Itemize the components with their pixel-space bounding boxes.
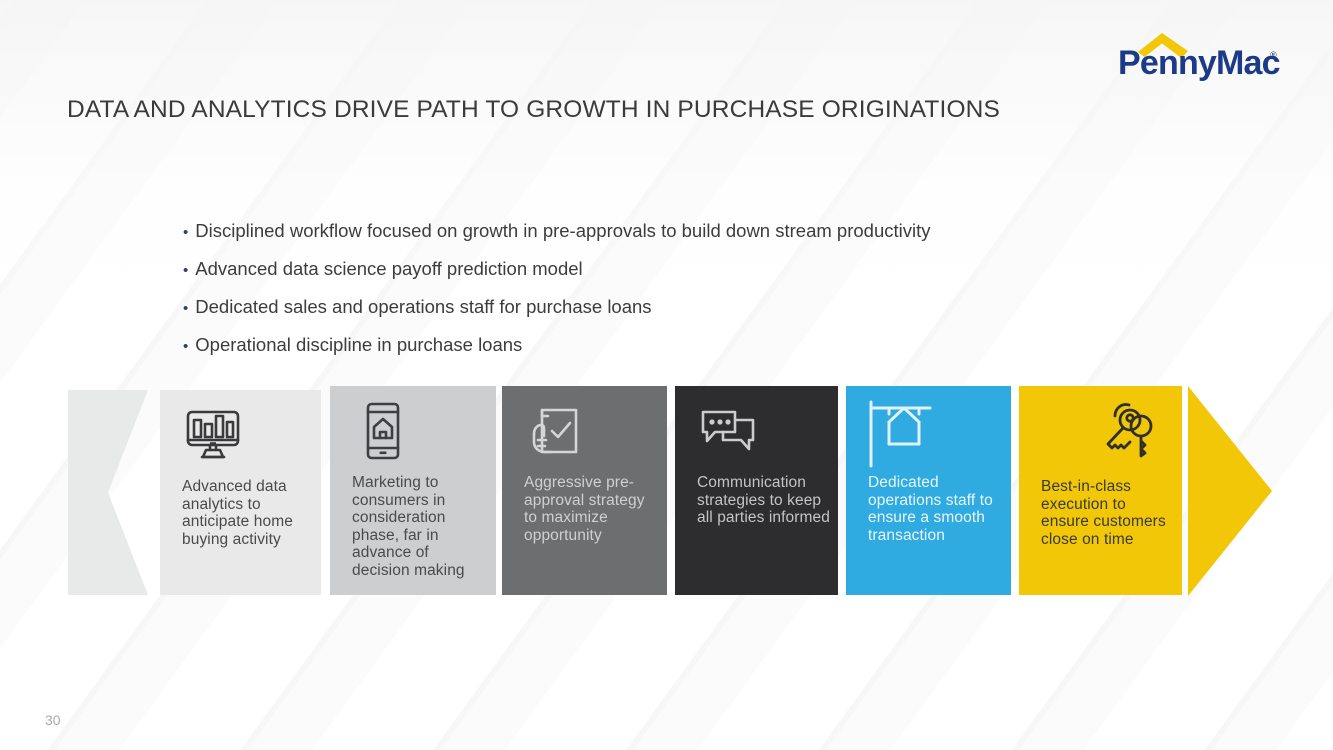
process-arrow-band: Advanced data analytics to anticipate ho… <box>0 380 1333 605</box>
bullet-item: • Dedicated sales and operations staff f… <box>183 298 1203 317</box>
bullet-text: Dedicated sales and operations staff for… <box>195 298 651 317</box>
bullet-text: Disciplined workflow focused on growth i… <box>195 222 930 241</box>
bullet-item: • Operational discipline in purchase loa… <box>183 336 1203 355</box>
page-title: DATA AND ANALYTICS DRIVE PATH TO GROWTH … <box>67 96 1000 124</box>
slide: PennyMac ® DATA AND ANALYTICS DRIVE PATH… <box>0 0 1333 750</box>
bullet-item: • Advanced data science payoff predictio… <box>183 260 1203 279</box>
bullet-text: Operational discipline in purchase loans <box>195 336 522 355</box>
bullet-list: • Disciplined workflow focused on growth… <box>183 222 1203 374</box>
process-step-label: Communication strategies to keep all par… <box>697 474 830 527</box>
process-step-label: Best-in-class execution to ensure custom… <box>1041 478 1169 548</box>
process-step-4[interactable]: Communication strategies to keep all par… <box>675 386 838 595</box>
arrow-head-shape <box>1188 386 1272 596</box>
bullet-marker-icon: • <box>183 301 188 316</box>
process-step-5[interactable]: Dedicated operations staff to ensure a s… <box>846 386 1011 595</box>
bullet-marker-icon: • <box>183 263 188 278</box>
keys-icon <box>1097 398 1161 462</box>
process-step-1[interactable]: Advanced data analytics to anticipate ho… <box>160 390 321 595</box>
monitor-bar-chart-icon <box>182 404 244 466</box>
bullet-marker-icon: • <box>183 339 188 354</box>
bullet-text: Advanced data science payoff prediction … <box>195 260 582 279</box>
pennymac-logo: PennyMac ® <box>1118 28 1288 82</box>
process-step-label: Advanced data analytics to anticipate ho… <box>182 478 313 548</box>
bullet-item: • Disciplined workflow focused on growth… <box>183 222 1203 241</box>
process-step-3[interactable]: Aggressive pre-approval strategy to maxi… <box>502 386 667 595</box>
process-step-6[interactable]: Best-in-class execution to ensure custom… <box>1019 386 1182 595</box>
crane-house-icon <box>864 396 938 470</box>
process-step-label: Marketing to consumers in consideration … <box>352 474 488 580</box>
chevron-tail-shape <box>68 390 148 595</box>
smartphone-house-icon <box>352 400 414 462</box>
bullet-marker-icon: • <box>183 225 188 240</box>
svg-text:®: ® <box>1270 50 1277 60</box>
svg-text:PennyMac: PennyMac <box>1118 44 1280 82</box>
process-step-2[interactable]: Marketing to consumers in consideration … <box>330 386 496 595</box>
process-step-label: Aggressive pre-approval strategy to maxi… <box>524 474 659 544</box>
speech-bubbles-icon <box>697 400 759 462</box>
page-number: 30 <box>45 712 61 728</box>
process-step-label: Dedicated operations staff to ensure a s… <box>868 474 1003 544</box>
hand-document-check-icon <box>524 400 586 462</box>
